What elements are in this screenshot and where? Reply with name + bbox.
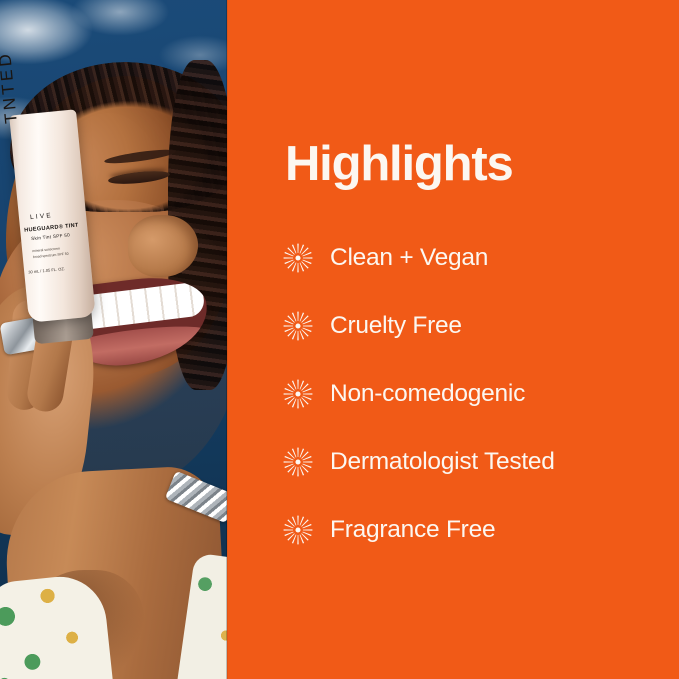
- page-title: Highlights: [285, 140, 513, 189]
- patterned-shirt: [0, 572, 114, 679]
- highlight-label: Non-comedogenic: [330, 380, 525, 408]
- list-item: Dermatologist Tested: [283, 428, 663, 496]
- sunburst-icon: [283, 243, 313, 273]
- sunburst-icon: [283, 311, 313, 341]
- highlight-label: Cruelty Free: [330, 312, 462, 340]
- highlight-label: Dermatologist Tested: [330, 448, 555, 476]
- highlights-panel: Highlights: [227, 0, 679, 679]
- highlight-label: Clean + Vegan: [330, 244, 488, 272]
- list-item: Cruelty Free: [283, 292, 663, 360]
- sunburst-icon: [283, 379, 313, 409]
- highlights-list: Clean + Vegan: [283, 224, 663, 564]
- list-item: Fragrance Free: [283, 496, 663, 564]
- product-highlights-banner: TNTED LIVE HUEGUARD® TINT Skin Tint SPF …: [0, 0, 679, 679]
- lifestyle-photo: TNTED LIVE HUEGUARD® TINT Skin Tint SPF …: [0, 0, 227, 679]
- list-item: Non-comedogenic: [283, 360, 663, 428]
- highlight-label: Fragrance Free: [330, 516, 495, 544]
- list-item: Clean + Vegan: [283, 224, 663, 292]
- panel-divider: [226, 0, 228, 679]
- sunburst-icon: [283, 447, 313, 477]
- sunburst-icon: [283, 515, 313, 545]
